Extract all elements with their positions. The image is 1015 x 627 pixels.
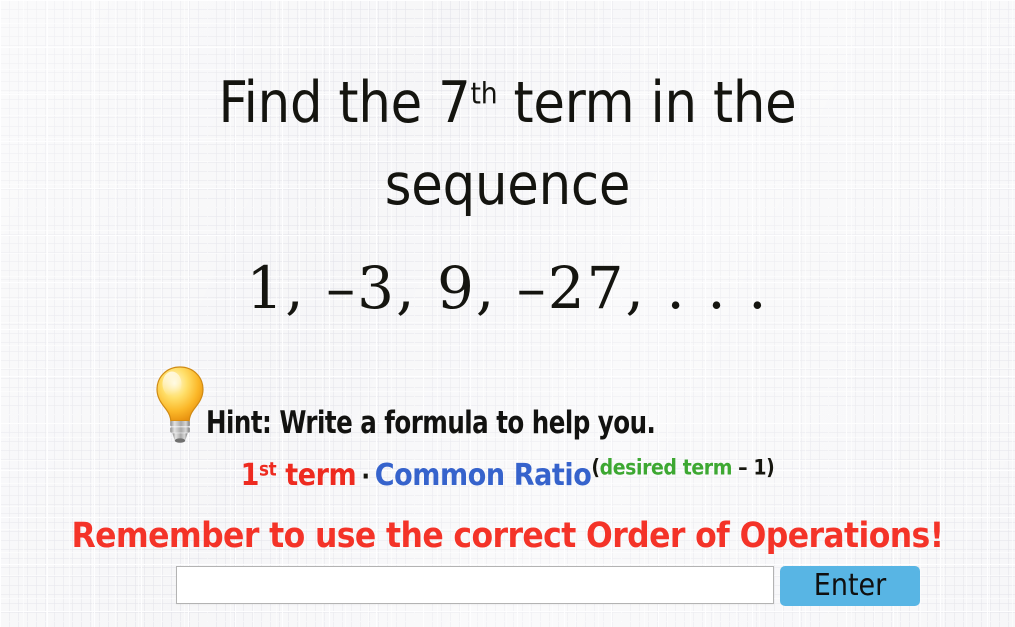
lesson-content: Find the 7th term in the sequence 1, –3,… — [0, 0, 1015, 627]
answer-row: Enter — [176, 566, 920, 606]
lightbulb-base-ring-2 — [170, 427, 190, 432]
answer-input[interactable] — [176, 566, 774, 604]
formula-exponent: (desired term – 1) — [591, 456, 774, 480]
prompt-line-2: sequence — [0, 144, 1015, 226]
lightbulb-icon — [152, 363, 208, 445]
prompt-line-1-before: Find the 7 — [218, 70, 470, 136]
formula-exponent-open: ( — [591, 456, 599, 480]
formula-first-term-ordinal: st — [259, 459, 276, 480]
hint-text: Hint: Write a formula to help you. — [206, 408, 655, 445]
lightbulb-base-ring-1 — [170, 421, 190, 426]
prompt-line-1-after: term in the — [497, 70, 796, 136]
formula-common-ratio: Common Ratio — [375, 458, 592, 493]
hint-row: Hint: Write a formula to help you. — [152, 363, 717, 445]
lightbulb-glass — [157, 367, 203, 421]
formula-multiply-operator: · — [356, 462, 375, 492]
formula-first-term-word: term — [276, 458, 356, 493]
formula-line: 1st term·Common Ratio(desired term – 1) — [0, 458, 1015, 495]
formula-exponent-tail: – 1) — [732, 456, 774, 480]
prompt-line-1: Find the 7th term in the — [0, 62, 1015, 144]
enter-button[interactable]: Enter — [780, 566, 920, 606]
lightbulb-contact — [175, 438, 185, 442]
page-title: Find the 7th term in the sequence — [0, 62, 1015, 226]
ordinal-suffix: th — [471, 76, 498, 111]
sequence-text: 1, –3, 9, –27, . . . — [0, 252, 1015, 324]
lightbulb-highlight — [163, 372, 182, 397]
formula-first-term-number: 1 — [241, 458, 259, 493]
formula-exponent-desired-term: desired term — [600, 456, 732, 480]
order-of-operations-reminder: Remember to use the correct Order of Ope… — [0, 514, 1015, 558]
